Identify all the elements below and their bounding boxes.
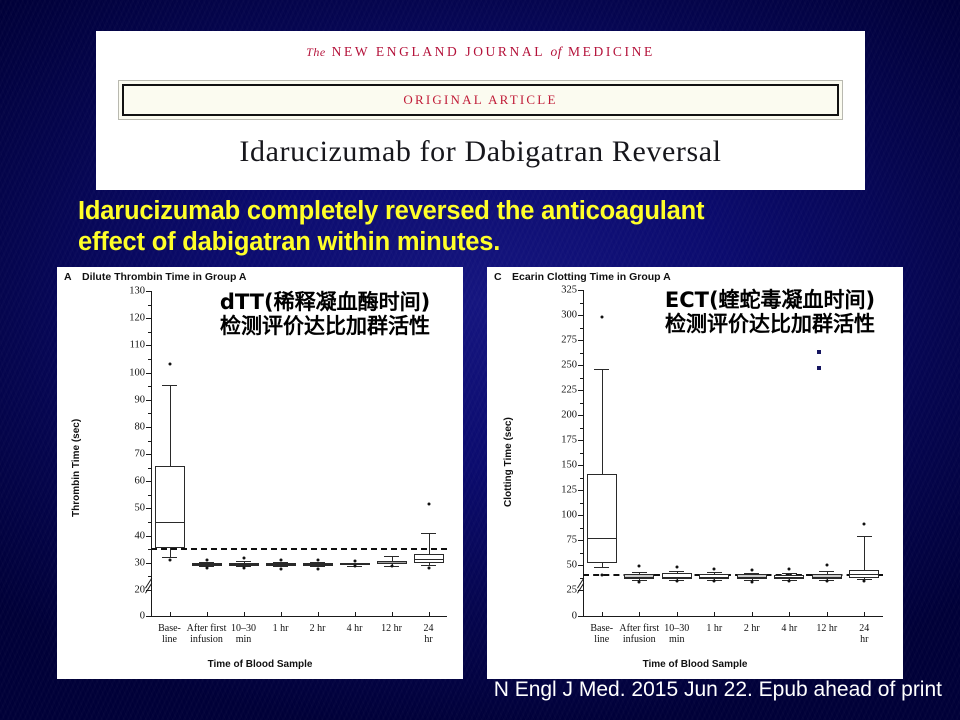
outlier-point — [825, 563, 828, 566]
panel-c-y-axis-title: Clotting Time (sec) — [503, 417, 514, 507]
whisker-cap-upper — [632, 572, 647, 573]
y-tick — [578, 340, 583, 341]
citation-text: N Engl J Med. 2015 Jun 22. Epub ahead of… — [0, 678, 942, 702]
y-tick-label: 60 — [135, 476, 146, 487]
outlier-point — [242, 567, 245, 570]
outlier-point — [638, 580, 641, 583]
y-tick-label: 200 — [561, 410, 577, 421]
y-tick-label: 50 — [135, 503, 146, 514]
y-minor-tick — [148, 413, 151, 414]
box-plot — [155, 291, 185, 617]
median-line — [266, 564, 296, 565]
masthead-the: The — [306, 45, 326, 59]
headline-line-2: effect of dabigatran within minutes. — [78, 227, 938, 258]
y-tick — [146, 291, 151, 292]
nejm-masthead: The NEW ENGLAND JOURNAL of MEDICINE — [96, 44, 865, 60]
x-tick-label: 12 hr — [816, 624, 837, 635]
panel-c-x-axis-title: Time of Blood Sample — [487, 659, 903, 670]
outlier-point — [788, 579, 791, 582]
x-tick-label: 24 hr — [419, 624, 438, 646]
original-article-box: ORIGINAL ARTICLE — [118, 80, 843, 120]
outlier-point — [168, 363, 171, 366]
y-tick — [578, 390, 583, 391]
y-minor-tick — [580, 353, 583, 354]
y-tick-label: 25 — [567, 585, 578, 596]
box-plot — [662, 290, 692, 617]
outlier-point — [600, 574, 603, 577]
box-plot — [849, 290, 879, 617]
x-tick — [355, 612, 356, 617]
outlier-point — [750, 580, 753, 583]
x-tick-label: Base- line — [158, 624, 181, 646]
panel-c-y-axis — [583, 290, 584, 617]
y-tick-label: 100 — [129, 367, 145, 378]
y-minor-tick — [580, 453, 583, 454]
median-line — [229, 564, 259, 565]
article-title: Idarucizumab for Dabigatran Reversal — [96, 135, 865, 169]
x-tick-label: 1 hr — [273, 624, 289, 635]
x-tick-label: 1 hr — [706, 624, 722, 635]
whisker-cap-upper — [857, 536, 872, 537]
outlier-point — [427, 566, 430, 569]
median-line — [303, 564, 333, 565]
x-tick — [170, 612, 171, 617]
y-tick-label: 0 — [140, 611, 145, 622]
y-tick — [146, 508, 151, 509]
original-article-label: ORIGINAL ARTICLE — [403, 92, 557, 108]
y-tick-label: 110 — [130, 340, 145, 351]
box-plot — [737, 290, 767, 617]
y-tick — [146, 400, 151, 401]
box-plot — [266, 291, 296, 617]
outlier-point — [863, 580, 866, 583]
box-plot — [377, 291, 407, 617]
box-plot — [774, 290, 804, 617]
y-tick-label: 40 — [135, 530, 146, 541]
x-tick — [392, 612, 393, 617]
outlier-point — [675, 579, 678, 582]
outlier-point — [788, 568, 791, 571]
whisker-upper — [429, 533, 430, 554]
y-tick — [578, 515, 583, 516]
whisker-upper — [602, 369, 603, 474]
y-tick — [578, 616, 583, 617]
stray-marker-icon — [817, 350, 821, 354]
y-tick — [146, 563, 151, 564]
box-plot — [229, 291, 259, 617]
x-tick-label: 12 hr — [381, 624, 402, 635]
y-minor-tick — [580, 478, 583, 479]
y-minor-tick — [148, 522, 151, 523]
outlier-point — [242, 557, 245, 560]
y-tick-label: 100 — [561, 510, 577, 521]
box-plot — [414, 291, 444, 617]
box-plot — [812, 290, 842, 617]
median-line — [192, 564, 222, 565]
y-tick — [146, 318, 151, 319]
whisker-cap-upper — [669, 571, 684, 572]
y-tick-label: 175 — [561, 435, 577, 446]
y-tick-label: 150 — [561, 460, 577, 471]
outlier-point — [205, 559, 208, 562]
x-tick-label: 2 hr — [744, 624, 760, 635]
y-tick-label: 125 — [561, 485, 577, 496]
median-line — [774, 577, 804, 578]
y-tick-label: 30 — [135, 557, 146, 568]
y-tick-label: 0 — [572, 611, 577, 622]
figure-panel-a: A Dilute Thrombin Time in Group A dTT(稀释… — [57, 267, 463, 679]
y-tick-label: 120 — [129, 313, 145, 324]
x-tick-label: 4 hr — [781, 624, 797, 635]
box-iqr — [155, 466, 185, 548]
median-line — [812, 577, 842, 578]
whisker-upper — [170, 385, 171, 467]
y-minor-tick — [580, 303, 583, 304]
y-tick-label: 325 — [561, 285, 577, 296]
x-tick — [789, 612, 790, 617]
slide-headline: Idarucizumab completely reversed the ant… — [78, 196, 938, 258]
y-minor-tick — [148, 441, 151, 442]
x-tick — [207, 612, 208, 617]
x-tick-label: 2 hr — [310, 624, 326, 635]
y-tick — [578, 565, 583, 566]
whisker-cap-upper — [594, 369, 609, 370]
y-minor-tick — [580, 378, 583, 379]
x-tick-label: 10–30 min — [231, 624, 256, 646]
panel-c-letter: C — [494, 271, 502, 283]
panel-a-y-axis-title: Thrombin Time (sec) — [71, 419, 82, 517]
y-tick — [146, 481, 151, 482]
outlier-point — [427, 503, 430, 506]
y-minor-tick — [148, 305, 151, 306]
outlier-point — [390, 564, 393, 567]
y-tick-label: 300 — [561, 310, 577, 321]
x-tick-label: 24 hr — [855, 624, 874, 646]
x-tick — [827, 612, 828, 617]
box-plot — [587, 290, 617, 617]
panel-a-y-axis — [151, 291, 152, 617]
outlier-point — [279, 559, 282, 562]
median-line — [414, 559, 444, 560]
median-line — [624, 577, 654, 578]
x-tick — [677, 612, 678, 617]
y-tick — [146, 616, 151, 617]
x-tick-label: Base- line — [590, 624, 613, 646]
y-tick-label: 250 — [561, 360, 577, 371]
panel-a-letter: A — [64, 271, 72, 283]
outlier-point — [863, 523, 866, 526]
x-tick-label: 10–30 min — [664, 624, 689, 646]
y-minor-tick — [580, 528, 583, 529]
median-line — [849, 574, 879, 575]
figure-panel-c: C Ecarin Clotting Time in Group A ECT(蝰蛇… — [487, 267, 903, 679]
median-line — [155, 522, 185, 523]
outlier-point — [750, 569, 753, 572]
y-tick-label: 225 — [561, 385, 577, 396]
y-minor-tick — [580, 328, 583, 329]
panel-a-title: Dilute Thrombin Time in Group A — [82, 271, 247, 283]
panel-c-plot-area: 0255075100125150175200225250275300325Bas… — [583, 290, 883, 617]
y-tick-label: 75 — [567, 535, 578, 546]
whisker-cap-lower — [594, 567, 609, 568]
y-tick-label: 80 — [135, 421, 146, 432]
y-tick-label: 90 — [135, 394, 146, 405]
y-tick — [146, 345, 151, 346]
x-tick — [752, 612, 753, 617]
x-tick — [281, 612, 282, 617]
stray-marker-icon — [817, 366, 821, 370]
y-minor-tick — [148, 332, 151, 333]
y-tick-label: 70 — [135, 449, 146, 460]
whisker-cap-upper — [162, 385, 177, 386]
box-iqr — [587, 474, 617, 563]
y-minor-tick — [580, 428, 583, 429]
x-tick-label: After first infusion — [619, 624, 659, 646]
x-tick — [602, 612, 603, 617]
masthead-of: of — [551, 44, 563, 59]
y-minor-tick — [148, 386, 151, 387]
y-minor-tick — [580, 403, 583, 404]
nejm-banner: The NEW ENGLAND JOURNAL of MEDICINE ORIG… — [96, 31, 865, 190]
y-tick — [578, 490, 583, 491]
median-line — [662, 577, 692, 578]
box-plot — [192, 291, 222, 617]
outlier-point — [638, 565, 641, 568]
box-plot — [303, 291, 333, 617]
box-plot — [699, 290, 729, 617]
whisker-upper — [864, 536, 865, 570]
outlier-point — [713, 567, 716, 570]
outlier-point — [205, 567, 208, 570]
y-tick — [146, 373, 151, 374]
x-tick-label: After first infusion — [187, 624, 227, 646]
outlier-point — [600, 316, 603, 319]
y-tick — [578, 540, 583, 541]
outlier-point — [168, 559, 171, 562]
outlier-point — [279, 567, 282, 570]
y-tick — [146, 454, 151, 455]
median-line — [587, 538, 617, 539]
y-tick — [578, 365, 583, 366]
y-tick — [578, 315, 583, 316]
y-tick-label: 50 — [567, 560, 578, 571]
box-plot — [340, 291, 370, 617]
median-line — [737, 577, 767, 578]
whisker-cap-upper — [819, 571, 834, 572]
y-tick-label: 275 — [561, 335, 577, 346]
whisker-cap-upper — [384, 556, 399, 557]
original-article-box-inner: ORIGINAL ARTICLE — [122, 84, 839, 116]
outlier-point — [353, 565, 356, 568]
outlier-point — [825, 580, 828, 583]
outlier-point — [316, 567, 319, 570]
whisker-lower — [170, 548, 171, 558]
outlier-point — [353, 560, 356, 563]
masthead-main: NEW ENGLAND JOURNAL — [332, 44, 545, 59]
x-tick — [429, 612, 430, 617]
y-tick-label: 130 — [129, 286, 145, 297]
y-tick — [578, 415, 583, 416]
panel-a-x-axis-title: Time of Blood Sample — [57, 659, 463, 670]
headline-line-1: Idarucizumab completely reversed the ant… — [78, 196, 938, 227]
y-tick — [146, 427, 151, 428]
x-tick — [714, 612, 715, 617]
x-tick — [864, 612, 865, 617]
x-tick — [318, 612, 319, 617]
outlier-point — [316, 558, 319, 561]
panel-c-title: Ecarin Clotting Time in Group A — [512, 271, 671, 283]
panel-a-plot-area: 02030405060708090100110120130Base- lineA… — [151, 291, 447, 617]
y-minor-tick — [580, 503, 583, 504]
box-plot — [624, 290, 654, 617]
outlier-point — [675, 565, 678, 568]
whisker-cap-upper — [782, 573, 797, 574]
y-minor-tick — [580, 553, 583, 554]
outlier-point — [713, 580, 716, 583]
y-tick — [578, 440, 583, 441]
x-tick — [639, 612, 640, 617]
x-tick-label: 4 hr — [347, 624, 363, 635]
y-tick — [146, 536, 151, 537]
y-minor-tick — [148, 359, 151, 360]
whisker-cap-upper — [421, 533, 436, 534]
y-minor-tick — [148, 468, 151, 469]
median-line — [699, 577, 729, 578]
whisker-cap-upper — [707, 572, 722, 573]
y-tick — [578, 465, 583, 466]
y-tick-label: 20 — [135, 585, 146, 596]
x-tick — [244, 612, 245, 617]
masthead-tail: MEDICINE — [568, 44, 655, 59]
y-tick — [578, 290, 583, 291]
y-minor-tick — [148, 495, 151, 496]
